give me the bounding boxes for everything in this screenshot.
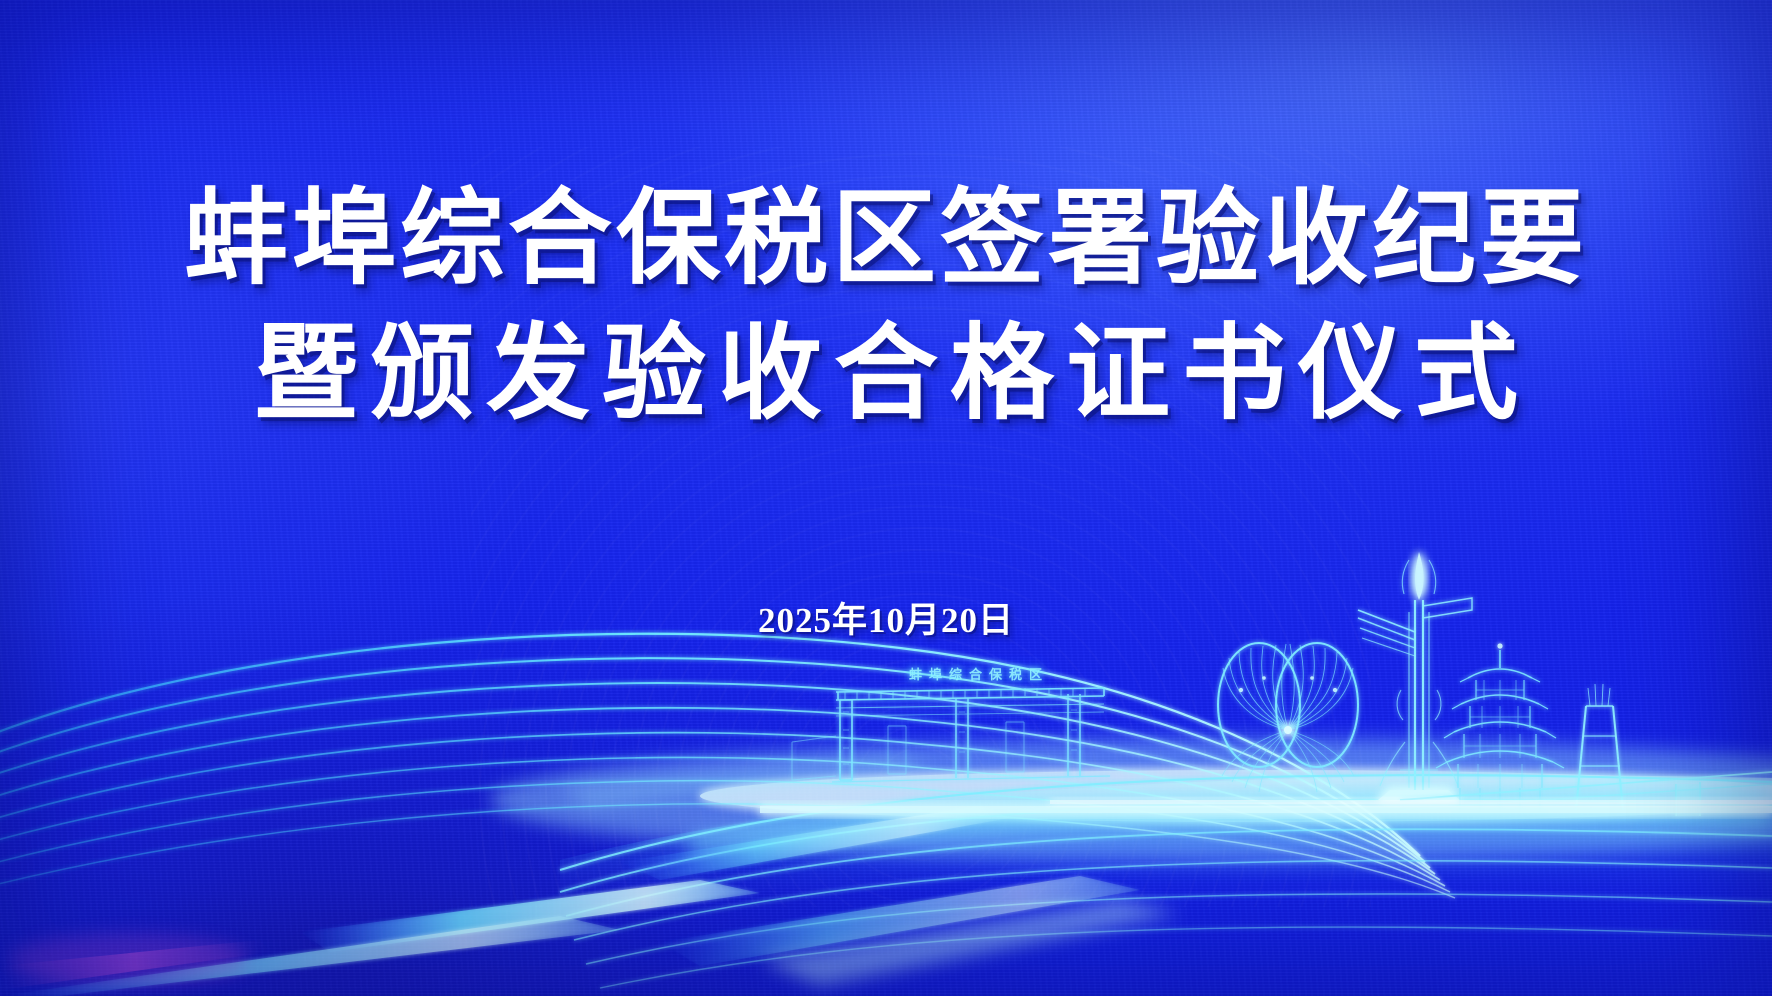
banner-title-line-1: 蚌埠综合保税区签署验收纪要	[0, 172, 1772, 307]
gateway-sign-text: 蚌埠综合保税区	[864, 664, 1094, 683]
banner-date: 2025年10月20日	[0, 592, 1772, 643]
magenta-bloom	[8, 934, 248, 986]
led-banner-screen: 蚌埠综合保税区 蚌埠综合保税区签署验收纪要 暨颁发验收合格证书仪式 2025年1…	[0, 0, 1772, 996]
banner-title-block: 蚌埠综合保税区签署验收纪要 暨颁发验收合格证书仪式	[0, 172, 1772, 442]
banner-title-line-2: 暨颁发验收合格证书仪式	[0, 307, 1772, 442]
banner-artwork	[0, 0, 1772, 996]
